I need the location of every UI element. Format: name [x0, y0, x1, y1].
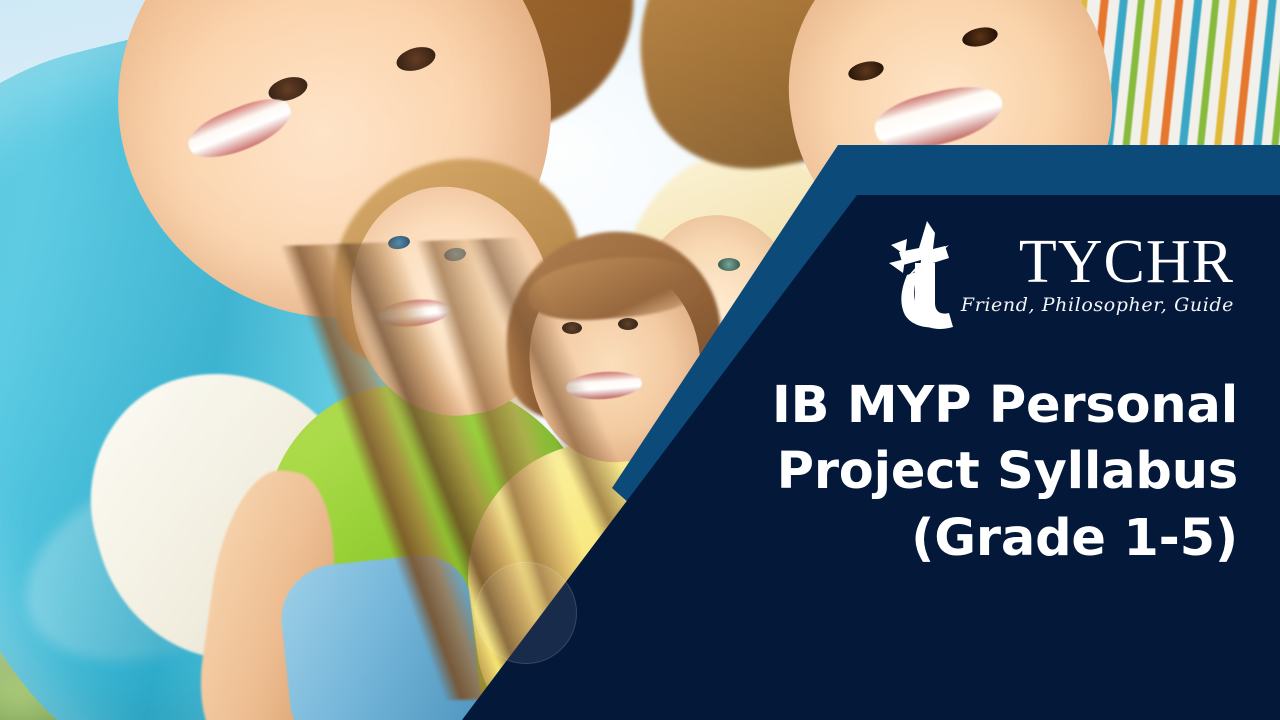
brand-tagline: Friend, Philosopher, Guide — [961, 295, 1234, 316]
brand-name: TYCHR — [1019, 233, 1234, 293]
headline-line-2: Project Syllabus — [690, 439, 1238, 505]
brand-logo-text: TYCHR Friend, Philosopher, Guide — [961, 215, 1234, 315]
page-title: IB MYP Personal Project Syllabus (Grade … — [690, 373, 1238, 572]
headline-line-3: (Grade 1-5) — [690, 506, 1238, 572]
tychr-t-monogram-icon — [883, 219, 967, 331]
banner-content: TYCHR Friend, Philosopher, Guide IB MYP … — [690, 215, 1238, 685]
brand-logo: TYCHR Friend, Philosopher, Guide — [690, 215, 1238, 335]
promo-banner: TYCHR Friend, Philosopher, Guide IB MYP … — [0, 0, 1280, 720]
headline-line-1: IB MYP Personal — [690, 373, 1238, 439]
decorative-circle — [475, 562, 577, 664]
